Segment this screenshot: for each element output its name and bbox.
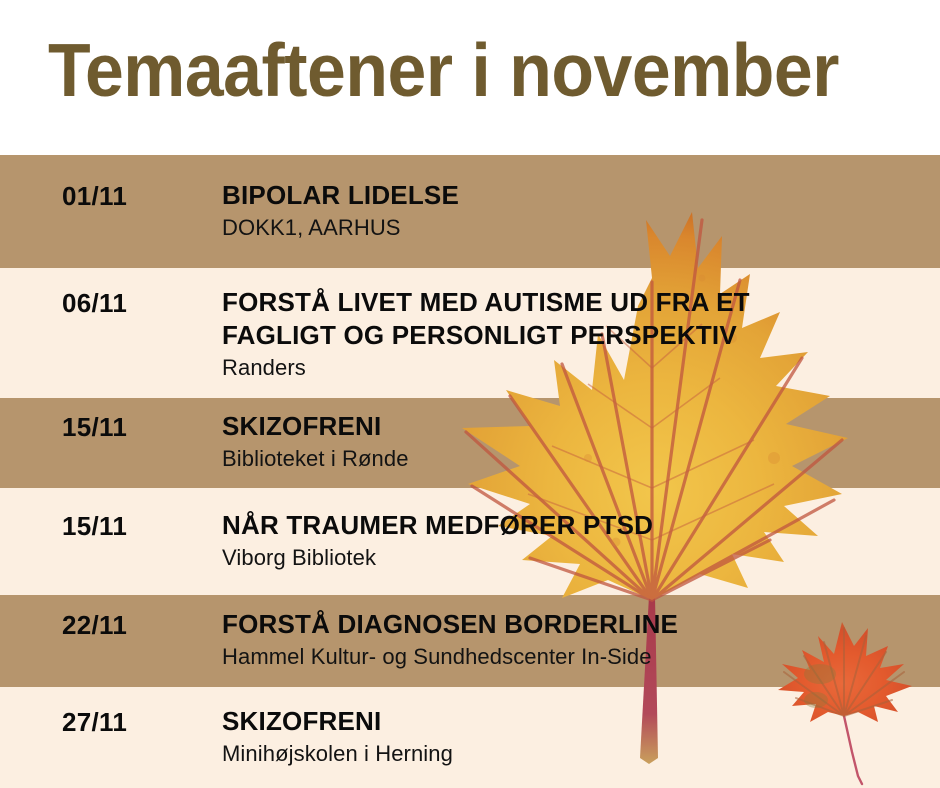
event-venue: Minihøjskolen i Herning: [222, 739, 922, 768]
event-info: FORSTÅ DIAGNOSEN BORDERLINEHammel Kultur…: [222, 608, 922, 671]
event-title: NÅR TRAUMER MEDFØRER PTSD: [222, 509, 922, 542]
event-title: FORSTÅ LIVET MED AUTISME UD FRA ET FAGLI…: [222, 286, 822, 352]
event-venue: Hammel Kultur- og Sundhedscenter In-Side: [222, 642, 922, 671]
event-title: SKIZOFRENI: [222, 705, 922, 738]
event-venue: Biblioteket i Rønde: [222, 444, 922, 473]
event-date: 22/11: [62, 610, 202, 640]
page-title: Temaaftener i november: [48, 29, 848, 111]
event-date: 15/11: [62, 511, 202, 541]
schedule-row[interactable]: 06/11FORSTÅ LIVET MED AUTISME UD FRA ET …: [0, 268, 940, 398]
schedule-row[interactable]: 15/11NÅR TRAUMER MEDFØRER PTSDViborg Bib…: [0, 488, 940, 595]
event-info: SKIZOFRENIBiblioteket i Rønde: [222, 410, 922, 473]
event-date: 15/11: [62, 412, 202, 442]
event-venue: DOKK1, AARHUS: [222, 213, 922, 242]
schedule-row[interactable]: 22/11FORSTÅ DIAGNOSEN BORDERLINEHammel K…: [0, 595, 940, 687]
event-info: SKIZOFRENIMinihøjskolen i Herning: [222, 705, 922, 768]
event-title: BIPOLAR LIDELSE: [222, 179, 922, 212]
schedule-row[interactable]: 27/11SKIZOFRENIMinihøjskolen i Herning: [0, 687, 940, 788]
event-date: 01/11: [62, 181, 202, 211]
event-venue: Viborg Bibliotek: [222, 543, 922, 572]
poster-header: Temaaftener i november: [0, 0, 940, 155]
schedule-row[interactable]: 01/11BIPOLAR LIDELSEDOKK1, AARHUS: [0, 155, 940, 268]
event-info: NÅR TRAUMER MEDFØRER PTSDViborg Bibliote…: [222, 509, 922, 572]
event-title: SKIZOFRENI: [222, 410, 922, 443]
event-info: BIPOLAR LIDELSEDOKK1, AARHUS: [222, 179, 922, 242]
event-date: 06/11: [62, 288, 202, 318]
event-date: 27/11: [62, 707, 202, 737]
event-title: FORSTÅ DIAGNOSEN BORDERLINE: [222, 608, 922, 641]
event-venue: Randers: [222, 353, 922, 382]
event-info: FORSTÅ LIVET MED AUTISME UD FRA ET FAGLI…: [222, 286, 922, 382]
schedule-row[interactable]: 15/11SKIZOFRENIBiblioteket i Rønde: [0, 398, 940, 488]
poster-canvas: Temaaftener i november 01/11BIPOLAR LIDE…: [0, 0, 940, 788]
